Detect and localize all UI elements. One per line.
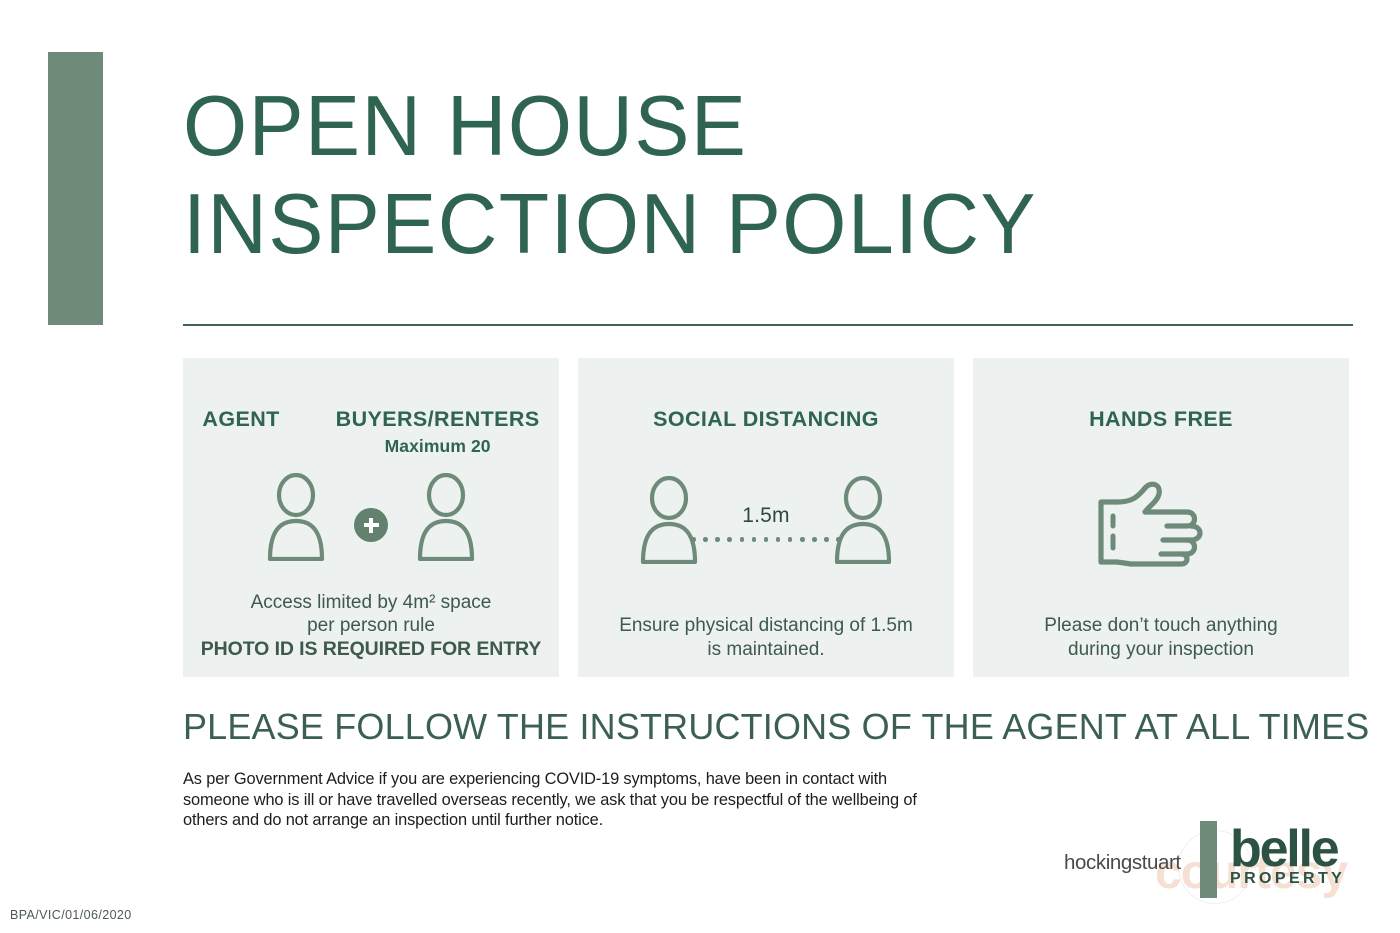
hockingstuart-logo: hockingstuart xyxy=(1064,851,1181,875)
page-title: OPEN HOUSE INSPECTION POLICY xyxy=(183,78,1353,274)
belle-logo-subtitle: PROPERTY xyxy=(1230,870,1347,888)
card-heading-social-distancing: SOCIAL DISTANCING xyxy=(653,406,879,432)
open-house-policy-poster: OPEN HOUSE INSPECTION POLICY AGENT BUYER… xyxy=(0,0,1400,933)
belle-logo-word: belle xyxy=(1230,824,1347,874)
brand-logo-group: hockingstuart belle PROPERTY xyxy=(1040,818,1360,906)
social-distancing-icon-row: 1.5m xyxy=(637,472,895,568)
dotted-line-icon xyxy=(691,537,841,542)
person-icon-right xyxy=(831,476,895,564)
dot xyxy=(824,537,829,542)
heading-col-agent: AGENT xyxy=(202,406,279,432)
card-agent-buyers-body: Access limited by 4m² space per person r… xyxy=(183,591,559,662)
page-title-line-1: OPEN HOUSE xyxy=(183,78,1318,176)
person-icon-agent xyxy=(264,473,328,561)
card-hands-free: HANDS FREE xyxy=(973,358,1349,677)
card-social-distancing-body: Ensure physical distancing of 1.5m is ma… xyxy=(578,614,954,661)
dot xyxy=(800,537,805,542)
card-hands-free-headings: HANDS FREE xyxy=(973,406,1349,432)
header-accent-bar xyxy=(48,52,103,325)
dot xyxy=(740,537,745,542)
policy-card-list: AGENT BUYERS/RENTERS Maximum 20 xyxy=(183,358,1353,677)
document-reference-code: BPA/VIC/01/06/2020 xyxy=(10,908,132,922)
dot xyxy=(715,537,720,542)
card-hands-free-body: Please don’t touch anything during your … xyxy=(973,614,1349,661)
card-agent-buyers: AGENT BUYERS/RENTERS Maximum 20 xyxy=(183,358,559,677)
footer-disclaimer: As per Government Advice if you are expe… xyxy=(183,769,953,831)
card-heading-hands-free: HANDS FREE xyxy=(1089,406,1233,432)
card-body-line-2: per person rule xyxy=(197,614,545,638)
hands-free-icon-row xyxy=(1091,478,1231,574)
dot xyxy=(727,537,732,542)
dot xyxy=(691,537,696,542)
card-body-line-2: is maintained. xyxy=(592,638,940,662)
distance-label: 1.5m xyxy=(742,504,790,528)
dot xyxy=(703,537,708,542)
dot xyxy=(812,537,817,542)
heading-col-buyers: BUYERS/RENTERS Maximum 20 xyxy=(336,406,540,457)
dot xyxy=(752,537,757,542)
page-title-line-2: INSPECTION POLICY xyxy=(183,176,1318,274)
card-heading-agent: AGENT xyxy=(202,406,279,432)
hand-icon xyxy=(1091,476,1231,577)
dot xyxy=(788,537,793,542)
header-divider xyxy=(183,324,1353,326)
card-body-line-2: during your inspection xyxy=(987,638,1335,662)
card-agent-buyers-headings: AGENT BUYERS/RENTERS Maximum 20 xyxy=(183,406,559,457)
card-social-distancing-headings: SOCIAL DISTANCING xyxy=(578,406,954,432)
logo-divider-bar xyxy=(1200,821,1217,898)
footer-headline: PLEASE FOLLOW THE INSTRUCTIONS OF THE AG… xyxy=(183,706,1369,748)
card-body-line-3: PHOTO ID IS REQUIRED FOR ENTRY xyxy=(197,638,545,662)
agent-buyers-icon-row xyxy=(264,469,478,565)
person-icon-left xyxy=(637,476,701,564)
card-heading-buyers-max: Maximum 20 xyxy=(336,436,540,457)
distance-indicator: 1.5m xyxy=(701,472,831,568)
belle-property-logo: belle PROPERTY xyxy=(1230,824,1347,888)
person-icon-buyer xyxy=(414,473,478,561)
dot xyxy=(764,537,769,542)
card-social-distancing: SOCIAL DISTANCING 1.5m xyxy=(578,358,954,677)
card-body-line-1: Ensure physical distancing of 1.5m xyxy=(592,614,940,638)
plus-icon xyxy=(354,508,388,542)
card-heading-buyers: BUYERS/RENTERS xyxy=(336,406,540,432)
dot xyxy=(776,537,781,542)
card-body-line-1: Access limited by 4m² space xyxy=(197,591,545,615)
card-body-line-1: Please don’t touch anything xyxy=(987,614,1335,638)
